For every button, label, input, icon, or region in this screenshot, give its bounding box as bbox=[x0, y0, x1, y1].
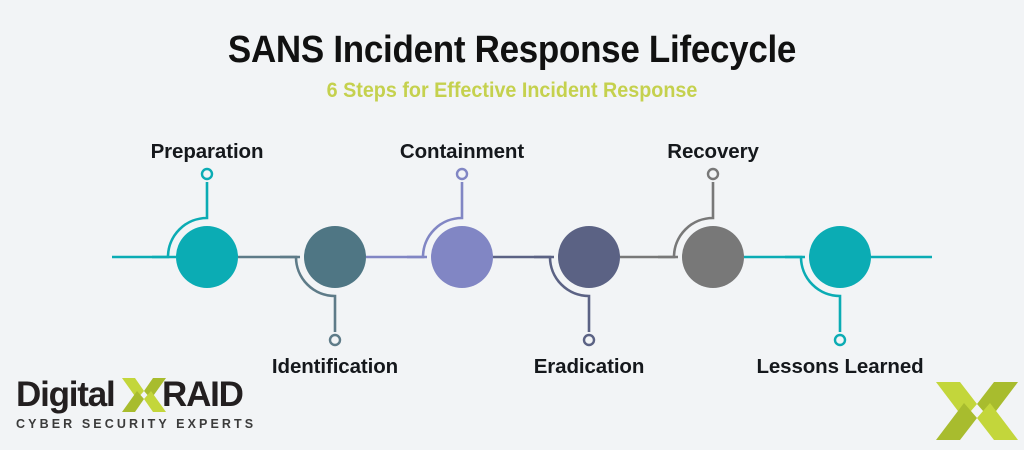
step-circle-containment[interactable] bbox=[431, 226, 493, 288]
step-endpoint-ring-preparation bbox=[202, 169, 212, 179]
step-endpoint-ring-recovery bbox=[708, 169, 718, 179]
step-label-identification: Identification bbox=[272, 355, 398, 378]
step-label-preparation: Preparation bbox=[151, 140, 264, 163]
logo-tagline: CYBER SECURITY EXPERTS bbox=[16, 417, 266, 431]
logo-word-raid: RAID bbox=[162, 376, 243, 414]
step-endpoint-ring-lessons-learned bbox=[835, 335, 845, 345]
step-label-eradication: Eradication bbox=[534, 355, 645, 378]
logo-x-icon bbox=[122, 378, 166, 412]
logo-wordmark: Digital RAID bbox=[16, 376, 262, 414]
corner-x-icon bbox=[936, 380, 1018, 442]
logo-word-digital: Digital bbox=[16, 376, 115, 414]
step-endpoint-ring-containment bbox=[457, 169, 467, 179]
step-node-lessons-learned[interactable]: Lessons Learned bbox=[756, 226, 923, 378]
step-node-preparation[interactable]: Preparation bbox=[151, 140, 264, 288]
infographic-canvas: SANS Incident Response Lifecycle 6 Steps… bbox=[0, 0, 1024, 450]
step-node-identification[interactable]: Identification bbox=[272, 226, 398, 378]
step-circle-eradication[interactable] bbox=[558, 226, 620, 288]
step-label-lessons-learned: Lessons Learned bbox=[756, 355, 923, 378]
step-label-recovery: Recovery bbox=[667, 140, 759, 163]
step-node-containment[interactable]: Containment bbox=[400, 140, 524, 288]
step-endpoint-ring-identification bbox=[330, 335, 340, 345]
step-node-recovery[interactable]: Recovery bbox=[658, 140, 759, 288]
step-circle-recovery[interactable] bbox=[682, 226, 744, 288]
step-circle-preparation[interactable] bbox=[176, 226, 238, 288]
step-circle-lessons-learned[interactable] bbox=[809, 226, 871, 288]
step-node-eradication[interactable]: Eradication bbox=[534, 226, 645, 378]
step-endpoint-ring-eradication bbox=[584, 335, 594, 345]
step-circle-identification[interactable] bbox=[304, 226, 366, 288]
brand-logo[interactable]: Digital RAID CYBER SECURITY EXPERTS bbox=[16, 376, 266, 438]
step-label-containment: Containment bbox=[400, 140, 524, 163]
